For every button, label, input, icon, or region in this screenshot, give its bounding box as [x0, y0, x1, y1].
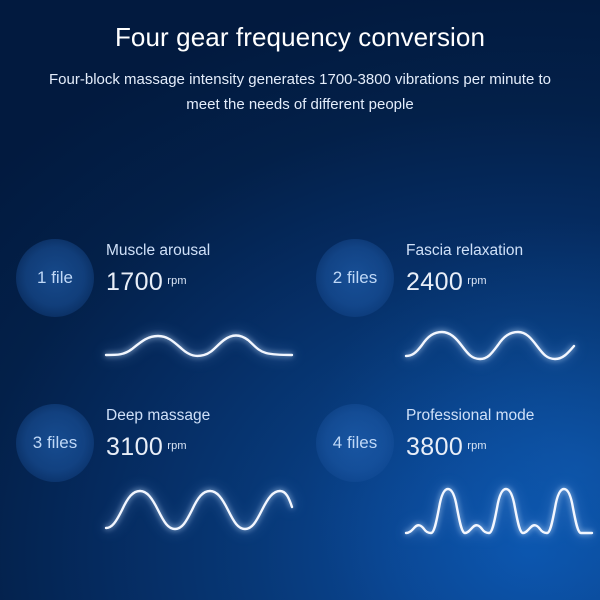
gear-rpm-line-4: 3800rpm: [406, 433, 596, 462]
gear-rpm-value-3: 3100: [106, 433, 163, 461]
gear-info-1: Muscle arousal 1700rpm: [106, 241, 296, 297]
gear-rpm-unit-3: rpm: [167, 440, 187, 452]
gear-mode-name-3: Deep massage: [106, 406, 296, 426]
gear-card-4: 4 files Professional mode 3800rpm: [300, 390, 600, 555]
gear-badge-label-3: 3 files: [33, 433, 77, 453]
gear-info-2: Fascia relaxation 2400rpm: [406, 241, 596, 297]
gear-rpm-unit-1: rpm: [167, 275, 187, 287]
gear-rpm-line-2: 2400rpm: [406, 268, 596, 297]
gear-card-2: 2 files Fascia relaxation 2400rpm: [300, 225, 600, 390]
gear-waveform-3: [104, 480, 294, 542]
gear-badge-3: 3 files: [16, 404, 94, 482]
header-block: Four gear frequency conversion Four-bloc…: [0, 0, 600, 117]
gear-card-3: 3 files Deep massage 3100rpm: [0, 390, 300, 555]
gear-rpm-value-2: 2400: [406, 268, 463, 296]
gear-rpm-unit-4: rpm: [467, 440, 487, 452]
gear-rpm-value-4: 3800: [406, 433, 463, 461]
page-subtitle: Four-block massage intensity generates 1…: [40, 53, 560, 117]
gear-badge-1: 1 file: [16, 239, 94, 317]
gear-badge-2: 2 files: [316, 239, 394, 317]
gear-info-3: Deep massage 3100rpm: [106, 406, 296, 462]
gear-info-4: Professional mode 3800rpm: [406, 406, 596, 462]
gear-badge-label-4: 4 files: [333, 433, 377, 453]
gear-rpm-line-1: 1700rpm: [106, 268, 296, 297]
gear-badge-4: 4 files: [316, 404, 394, 482]
gear-card-1: 1 file Muscle arousal 1700rpm: [0, 225, 300, 390]
gear-rpm-unit-2: rpm: [467, 275, 487, 287]
gear-grid: 1 file Muscle arousal 1700rpm 2 files Fa…: [0, 225, 600, 555]
gear-waveform-4: [404, 480, 594, 542]
page-title: Four gear frequency conversion: [0, 0, 600, 53]
gear-waveform-2: [404, 315, 594, 377]
gear-rpm-line-3: 3100rpm: [106, 433, 296, 462]
gear-mode-name-4: Professional mode: [406, 406, 596, 426]
gear-waveform-1: [104, 315, 294, 377]
gear-badge-label-1: 1 file: [37, 268, 73, 288]
gear-rpm-value-1: 1700: [106, 268, 163, 296]
gear-frequency-infographic: Four gear frequency conversion Four-bloc…: [0, 0, 600, 600]
gear-badge-label-2: 2 files: [333, 268, 377, 288]
gear-mode-name-2: Fascia relaxation: [406, 241, 596, 261]
gear-mode-name-1: Muscle arousal: [106, 241, 296, 261]
